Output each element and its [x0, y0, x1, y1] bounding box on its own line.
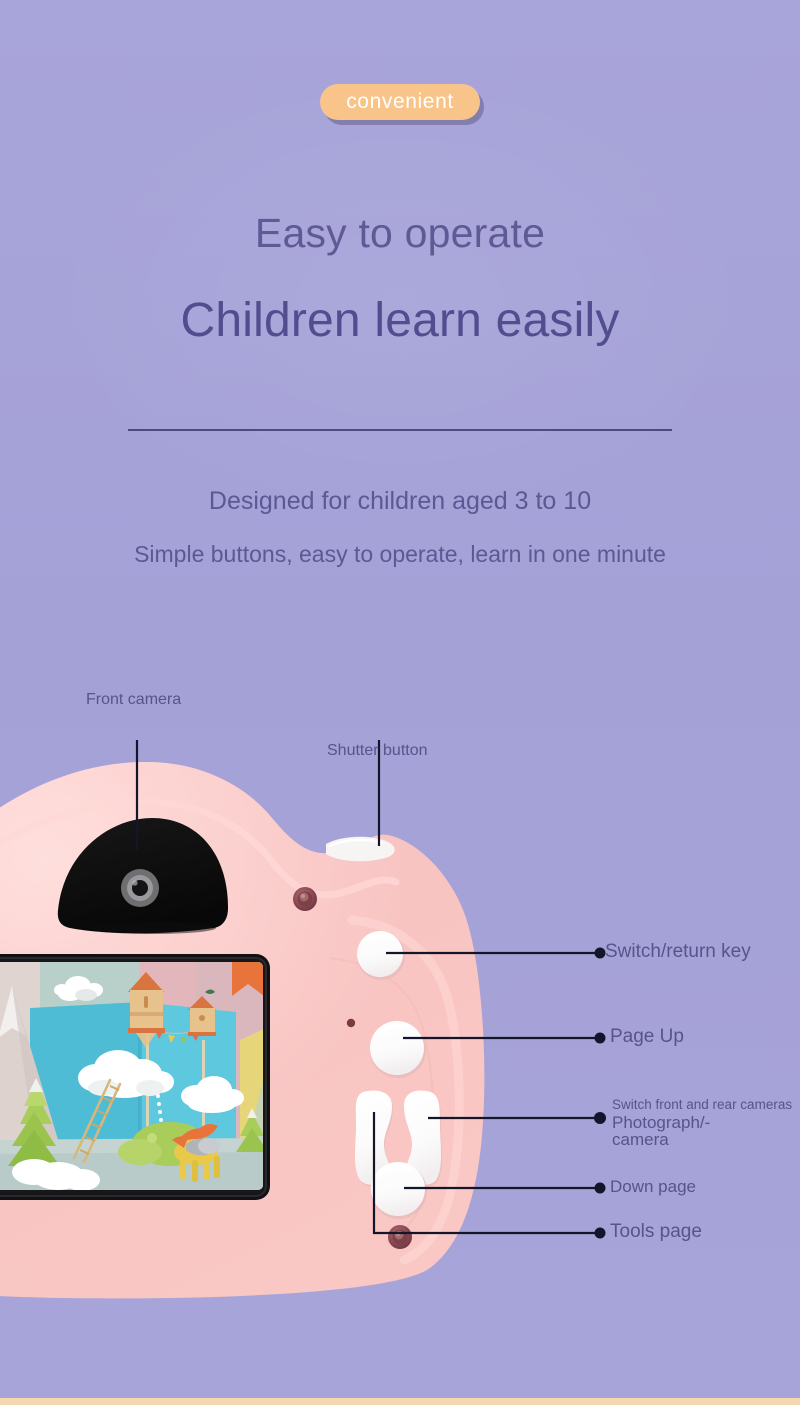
heading-primary: Easy to operate — [0, 210, 800, 257]
body-screw-bottom — [388, 1225, 412, 1249]
screen-scene — [0, 962, 280, 1191]
convenient-badge: convenient — [320, 84, 480, 120]
dot-down-page — [595, 1183, 606, 1194]
callout-label-front-camera: Front camera — [86, 691, 181, 709]
lcd-screen — [0, 954, 280, 1200]
callout-label-down-page: Down page — [610, 1177, 696, 1196]
subheading-age: Designed for children aged 3 to 10 — [0, 487, 800, 516]
shutter-button — [326, 837, 395, 862]
callout-label-photograph-line1: Photograph/- — [612, 1114, 710, 1131]
camera-illustration — [0, 740, 800, 1300]
callout-label-page-up: Page Up — [610, 1026, 684, 1047]
callout-label-photograph-line2: camera — [612, 1131, 710, 1148]
subheading-simple: Simple buttons, easy to operate, learn i… — [0, 541, 800, 568]
callout-label-tools-page: Tools page — [610, 1221, 702, 1242]
bottom-accent-strip — [0, 1398, 800, 1405]
heading-secondary: Children learn easily — [0, 293, 800, 348]
indicator-dot — [347, 1019, 355, 1027]
divider-rule — [128, 429, 672, 431]
callout-label-photograph: Photograph/- camera — [612, 1114, 710, 1148]
dot-switch-return — [595, 948, 606, 959]
promo-page: convenient Easy to operate Children lear… — [0, 0, 800, 1405]
callout-label-shutter: Shutter button — [327, 742, 428, 760]
callout-label-switch-return: Switch/return key — [605, 941, 751, 962]
callout-label-swap-cameras: Switch front and rear cameras — [612, 1097, 792, 1112]
badge-container: convenient — [0, 84, 800, 120]
dot-page-up — [595, 1033, 606, 1044]
dot-tools-page — [595, 1228, 606, 1239]
body-screw-top — [293, 887, 317, 911]
dot-photograph — [594, 1112, 606, 1124]
